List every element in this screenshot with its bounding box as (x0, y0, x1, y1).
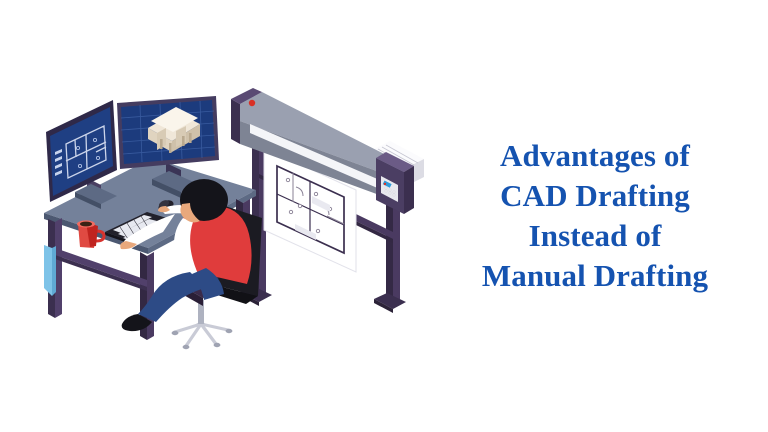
headline-line-3: Instead of (482, 216, 708, 256)
banner: Advantages of CAD Drafting Instead of Ma… (0, 0, 768, 432)
plotter-panel-led (384, 183, 386, 185)
page-title: Advantages of CAD Drafting Instead of Ma… (482, 136, 708, 296)
plotter-power-led (249, 100, 255, 106)
plotter (231, 88, 424, 313)
headline-line-4: Manual Drafting (482, 256, 708, 296)
illustration-pane (0, 0, 440, 432)
left-monitor (46, 100, 117, 209)
cad-drafting-workstation-illustration (0, 0, 440, 432)
headline-pane: Advantages of CAD Drafting Instead of Ma… (440, 0, 768, 432)
headline-line-1: Advantages of (482, 136, 708, 176)
headline-line-2: CAD Drafting (482, 176, 708, 216)
chair-base (172, 300, 233, 349)
rolled-drawing-accent (44, 245, 56, 296)
